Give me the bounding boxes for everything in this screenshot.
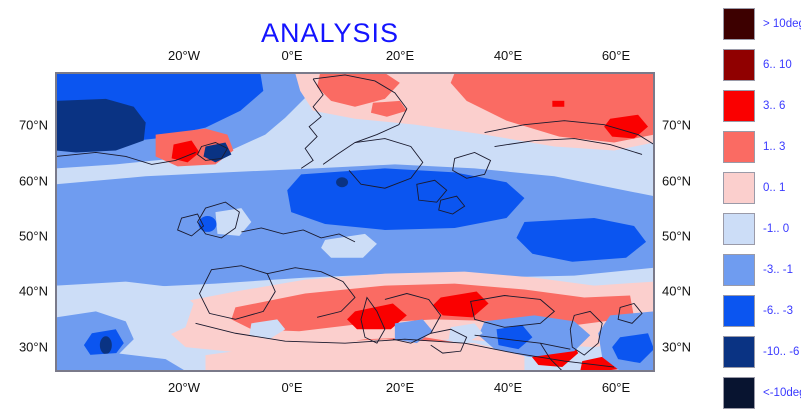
tick-top-4: 60°E xyxy=(602,48,630,63)
legend-swatch-9 xyxy=(723,377,755,409)
legend-item-8[interactable]: -10.. -6 xyxy=(718,331,801,372)
legend-item-7[interactable]: -6.. -3 xyxy=(718,290,801,331)
legend-item-2[interactable]: 3.. 6 xyxy=(718,85,801,126)
legend-label-5: -1.. 0 xyxy=(763,223,789,235)
legend-swatch-3 xyxy=(723,131,755,163)
tick-top-1: 0°E xyxy=(281,48,302,63)
tick-bottom-3: 40°E xyxy=(494,380,522,395)
tick-bottom-1: 0°E xyxy=(281,380,302,395)
legend-label-3: 1.. 3 xyxy=(763,141,785,153)
legend-label-2: 3.. 6 xyxy=(763,100,785,112)
tick-left-3: 40°N xyxy=(19,284,48,299)
legend-item-5[interactable]: -1.. 0 xyxy=(718,208,801,249)
legend-swatch-5 xyxy=(723,213,755,245)
legend-item-1[interactable]: 6.. 10 xyxy=(718,44,801,85)
legend-label-6: -3.. -1 xyxy=(763,264,793,276)
legend-label-4: 0.. 1 xyxy=(763,182,785,194)
tick-right-0: 70°N xyxy=(662,118,691,133)
tick-bottom-2: 20°E xyxy=(386,380,414,395)
legend-swatch-7 xyxy=(723,295,755,327)
legend-swatch-2 xyxy=(723,90,755,122)
tick-right-4: 30°N xyxy=(662,340,691,355)
legend-swatch-8 xyxy=(723,336,755,368)
legend-label-1: 6.. 10 xyxy=(763,59,792,71)
tick-left-0: 70°N xyxy=(19,118,48,133)
legend-label-8: -10.. -6 xyxy=(763,346,799,358)
tick-right-1: 60°N xyxy=(662,174,691,189)
legend-item-0[interactable]: > 10deg xyxy=(718,3,801,44)
legend-swatch-1 xyxy=(723,49,755,81)
page-title: ANALYSIS xyxy=(0,18,660,49)
tick-top-3: 40°E xyxy=(494,48,522,63)
legend-swatch-4 xyxy=(723,172,755,204)
legend-item-9[interactable]: <-10deg xyxy=(718,372,801,413)
blob-neg10-scand xyxy=(336,177,348,187)
legend-label-7: -6.. -3 xyxy=(763,305,793,317)
map-plot-area[interactable] xyxy=(55,72,655,372)
tick-right-2: 50°N xyxy=(662,229,691,244)
color-legend: > 10deg 6.. 10 3.. 6 1.. 3 0.. 1 -1.. 0 … xyxy=(718,0,801,414)
band-neg10-greenland xyxy=(56,99,146,153)
tick-bottom-0: 20°W xyxy=(168,380,200,395)
tick-top-2: 20°E xyxy=(386,48,414,63)
tick-right-3: 40°N xyxy=(662,284,691,299)
tick-left-2: 50°N xyxy=(19,229,48,244)
blob-pos6-ne-small xyxy=(552,101,564,107)
legend-item-4[interactable]: 0.. 1 xyxy=(718,167,801,208)
legend-swatch-0 xyxy=(723,8,755,40)
legend-label-0: > 10deg xyxy=(763,18,801,30)
legend-swatch-6 xyxy=(723,254,755,286)
tick-top-0: 20°W xyxy=(168,48,200,63)
blob-neg10-morocco xyxy=(100,336,112,354)
legend-item-6[interactable]: -3.. -1 xyxy=(718,249,801,290)
tick-left-4: 30°N xyxy=(19,340,48,355)
legend-label-9: <-10deg xyxy=(763,387,801,399)
contour-field xyxy=(56,73,654,371)
blob-neg6-britain xyxy=(199,216,217,232)
legend-item-3[interactable]: 1.. 3 xyxy=(718,126,801,167)
tick-left-1: 60°N xyxy=(19,174,48,189)
map-figure: ANALYSIS xyxy=(0,0,801,414)
tick-bottom-4: 60°E xyxy=(602,380,630,395)
